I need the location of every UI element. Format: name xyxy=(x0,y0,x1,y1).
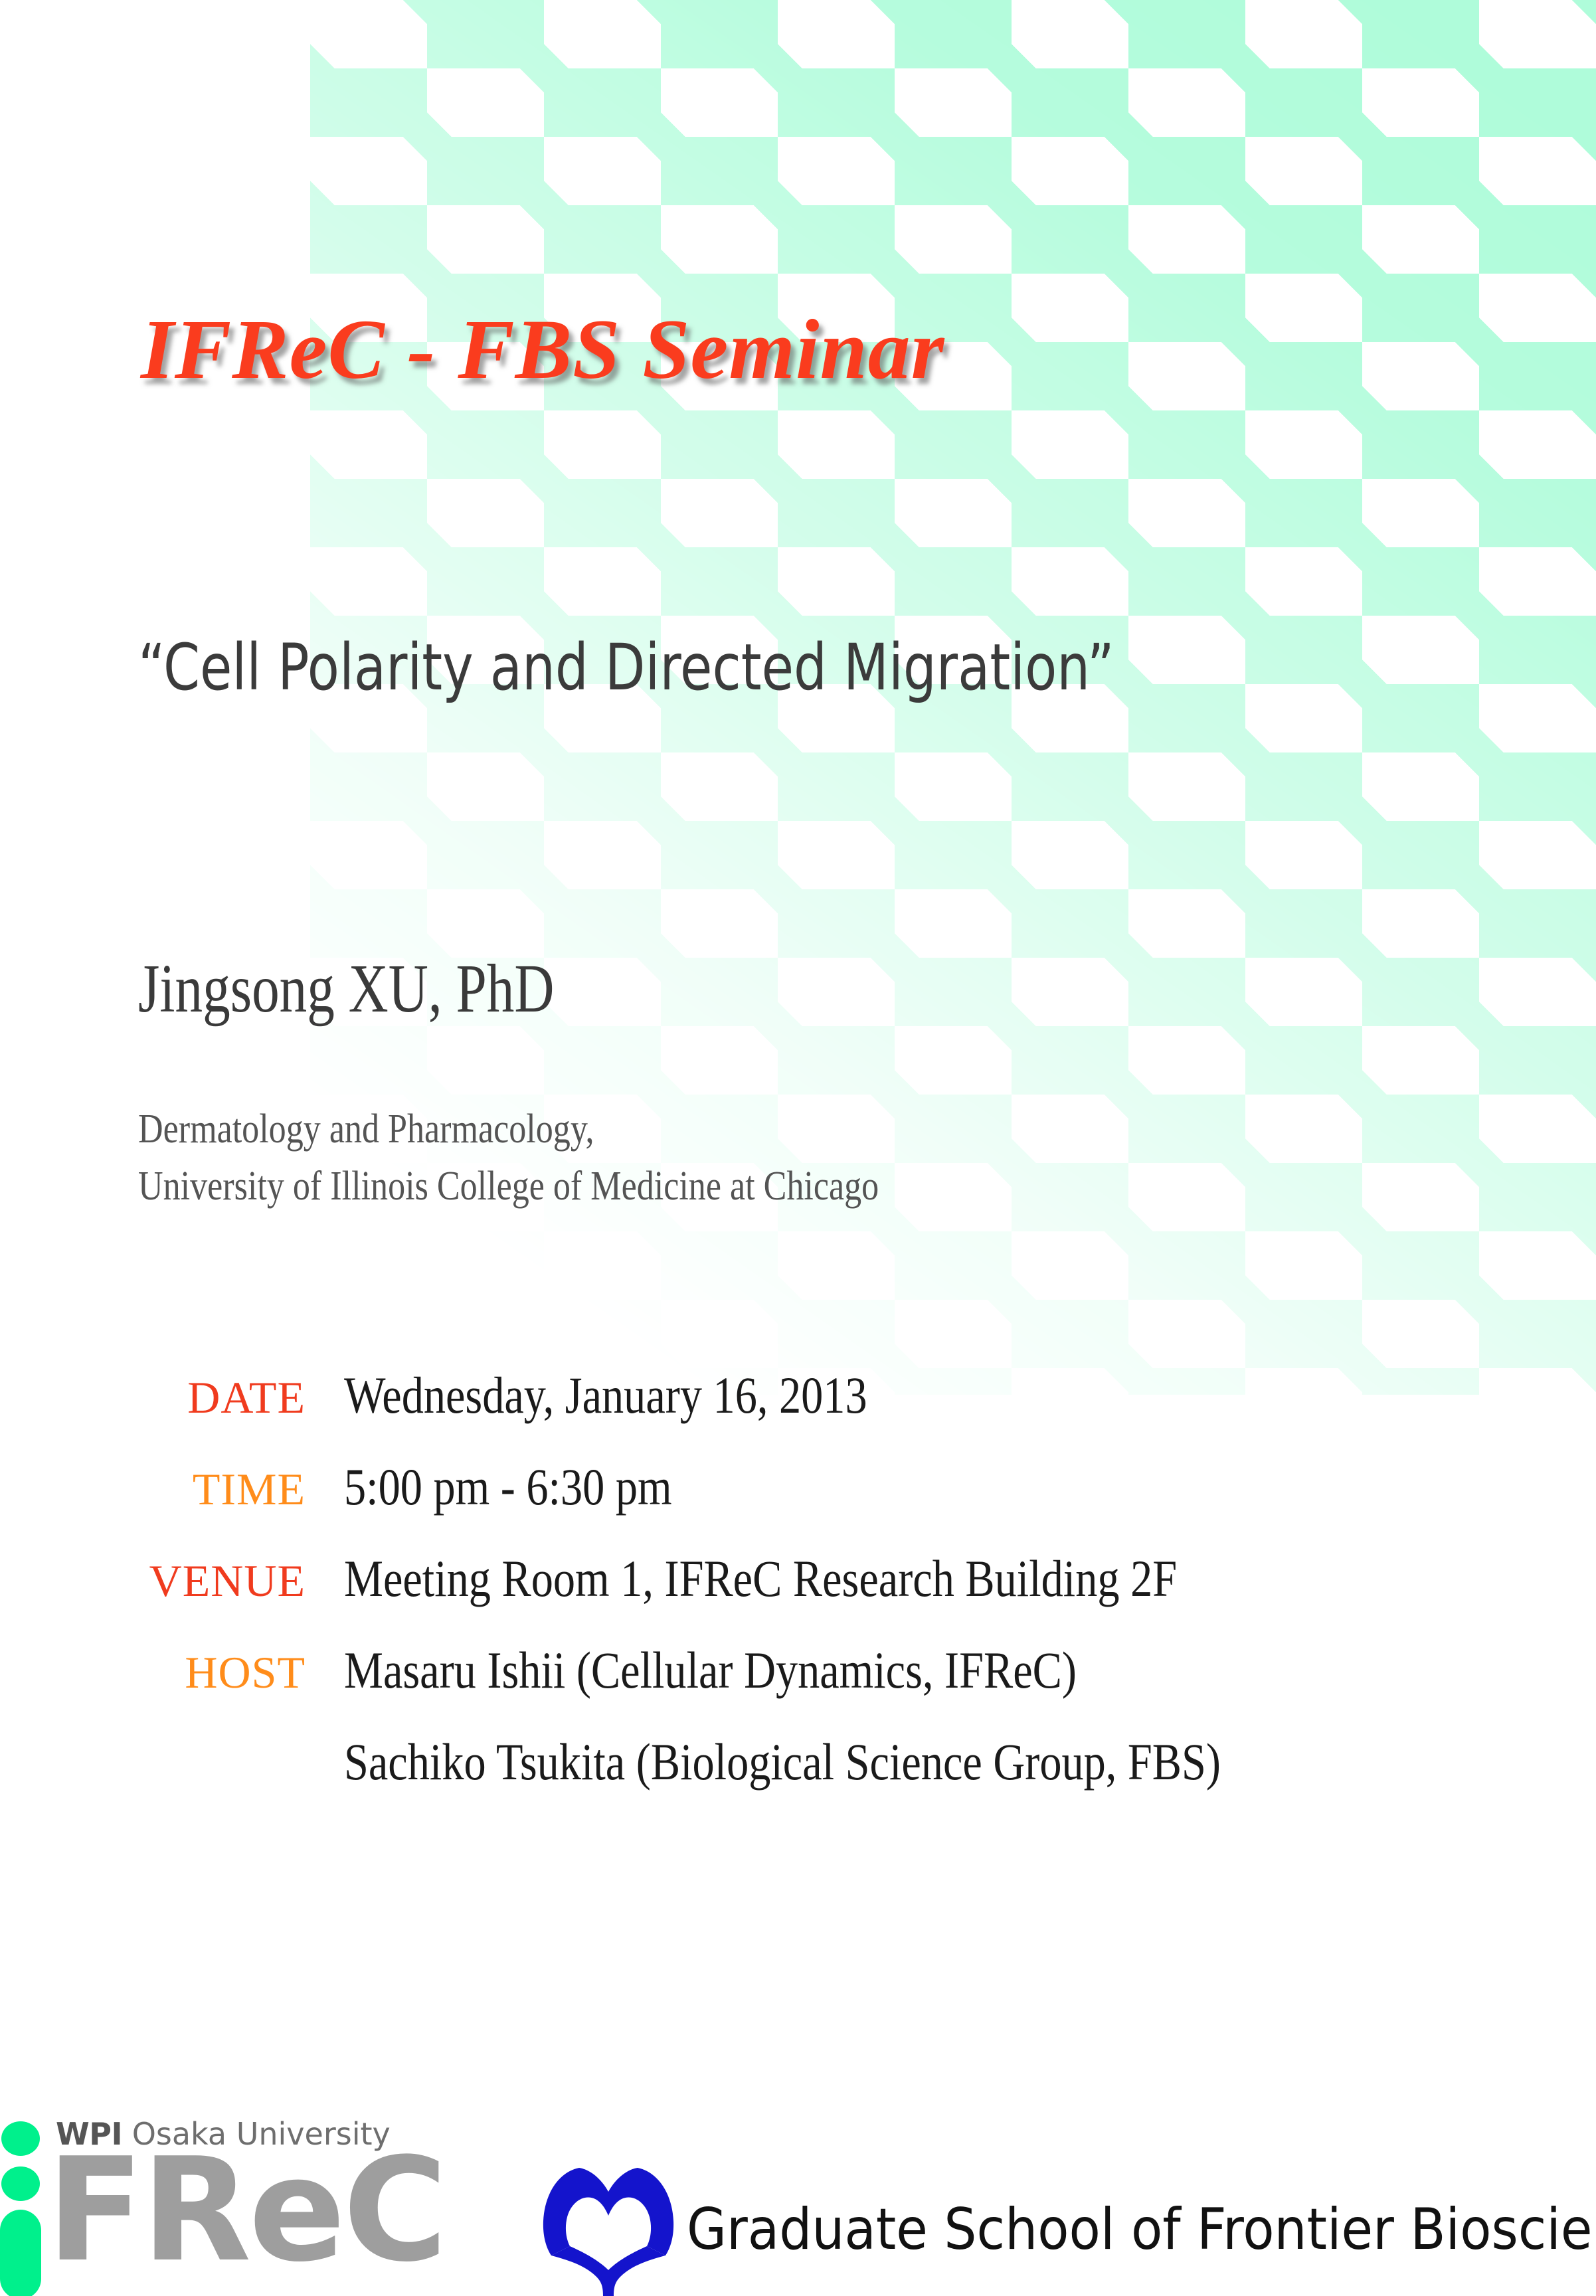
poster-content: IFReC - FBS Seminar “Cell Polarity and D… xyxy=(0,0,1596,2296)
ifrec-logo: WPI Osaka University FReC xyxy=(0,2107,478,2296)
detail-row-venue: VENUE Meeting Room 1, IFReC Research Bui… xyxy=(138,1553,1533,1644)
seminar-series-title: IFReC - FBS Seminar xyxy=(141,307,944,392)
detail-value-venue: Meeting Room 1, IFReC Research Building … xyxy=(344,1553,1177,1605)
affiliation-line-1: Dermatology and Pharmacology, xyxy=(138,1101,879,1158)
detail-row-host-secondary: Sachiko Tsukita (Biological Science Grou… xyxy=(138,1736,1533,1828)
detail-value-date: Wednesday, January 16, 2013 xyxy=(344,1369,867,1421)
ifrec-i-stem-icon xyxy=(0,2210,41,2296)
fbs-school-name: Graduate School of Frontier Biosciences xyxy=(687,2201,1596,2258)
detail-value-time: 5:00 pm - 6:30 pm xyxy=(344,1461,672,1513)
affiliation-line-2: University of Illinois College of Medici… xyxy=(138,1158,879,1215)
detail-label-time: TIME xyxy=(138,1466,306,1512)
speaker-name: Jingsong XU, PhD xyxy=(138,954,554,1023)
detail-row-time: TIME 5:00 pm - 6:30 pm xyxy=(138,1461,1533,1553)
fbs-logo: Graduate School of Frontier Biosciences xyxy=(539,2166,1589,2296)
poster-footer: WPI Osaka University FReC Graduate Schoo… xyxy=(0,2092,1596,2296)
detail-label-host: HOST xyxy=(138,1650,306,1695)
speaker-affiliation: Dermatology and Pharmacology, University… xyxy=(138,1101,879,1215)
event-details-list: DATE Wednesday, January 16, 2013 TIME 5:… xyxy=(138,1369,1533,1828)
detail-label-date: DATE xyxy=(138,1375,306,1420)
detail-value-host-secondary: Sachiko Tsukita (Biological Science Grou… xyxy=(344,1736,1221,1788)
detail-row-host: HOST Masaru Ishii (Cellular Dynamics, IF… xyxy=(138,1644,1533,1736)
seminar-poster: IFReC - FBS Seminar “Cell Polarity and D… xyxy=(0,0,1596,2296)
ifrec-wordmark: FReC xyxy=(46,2139,445,2281)
seminar-topic-title: “Cell Polarity and Directed Migration” xyxy=(138,634,1114,701)
detail-label-venue: VENUE xyxy=(138,1558,306,1603)
detail-row-date: DATE Wednesday, January 16, 2013 xyxy=(138,1369,1533,1461)
ifrec-dot-top-icon xyxy=(1,2121,40,2156)
ifrec-dot-middle-icon xyxy=(1,2166,40,2201)
detail-value-host-primary: Masaru Ishii (Cellular Dynamics, IFReC) xyxy=(344,1644,1077,1696)
osaka-university-tulip-icon xyxy=(539,2166,677,2296)
